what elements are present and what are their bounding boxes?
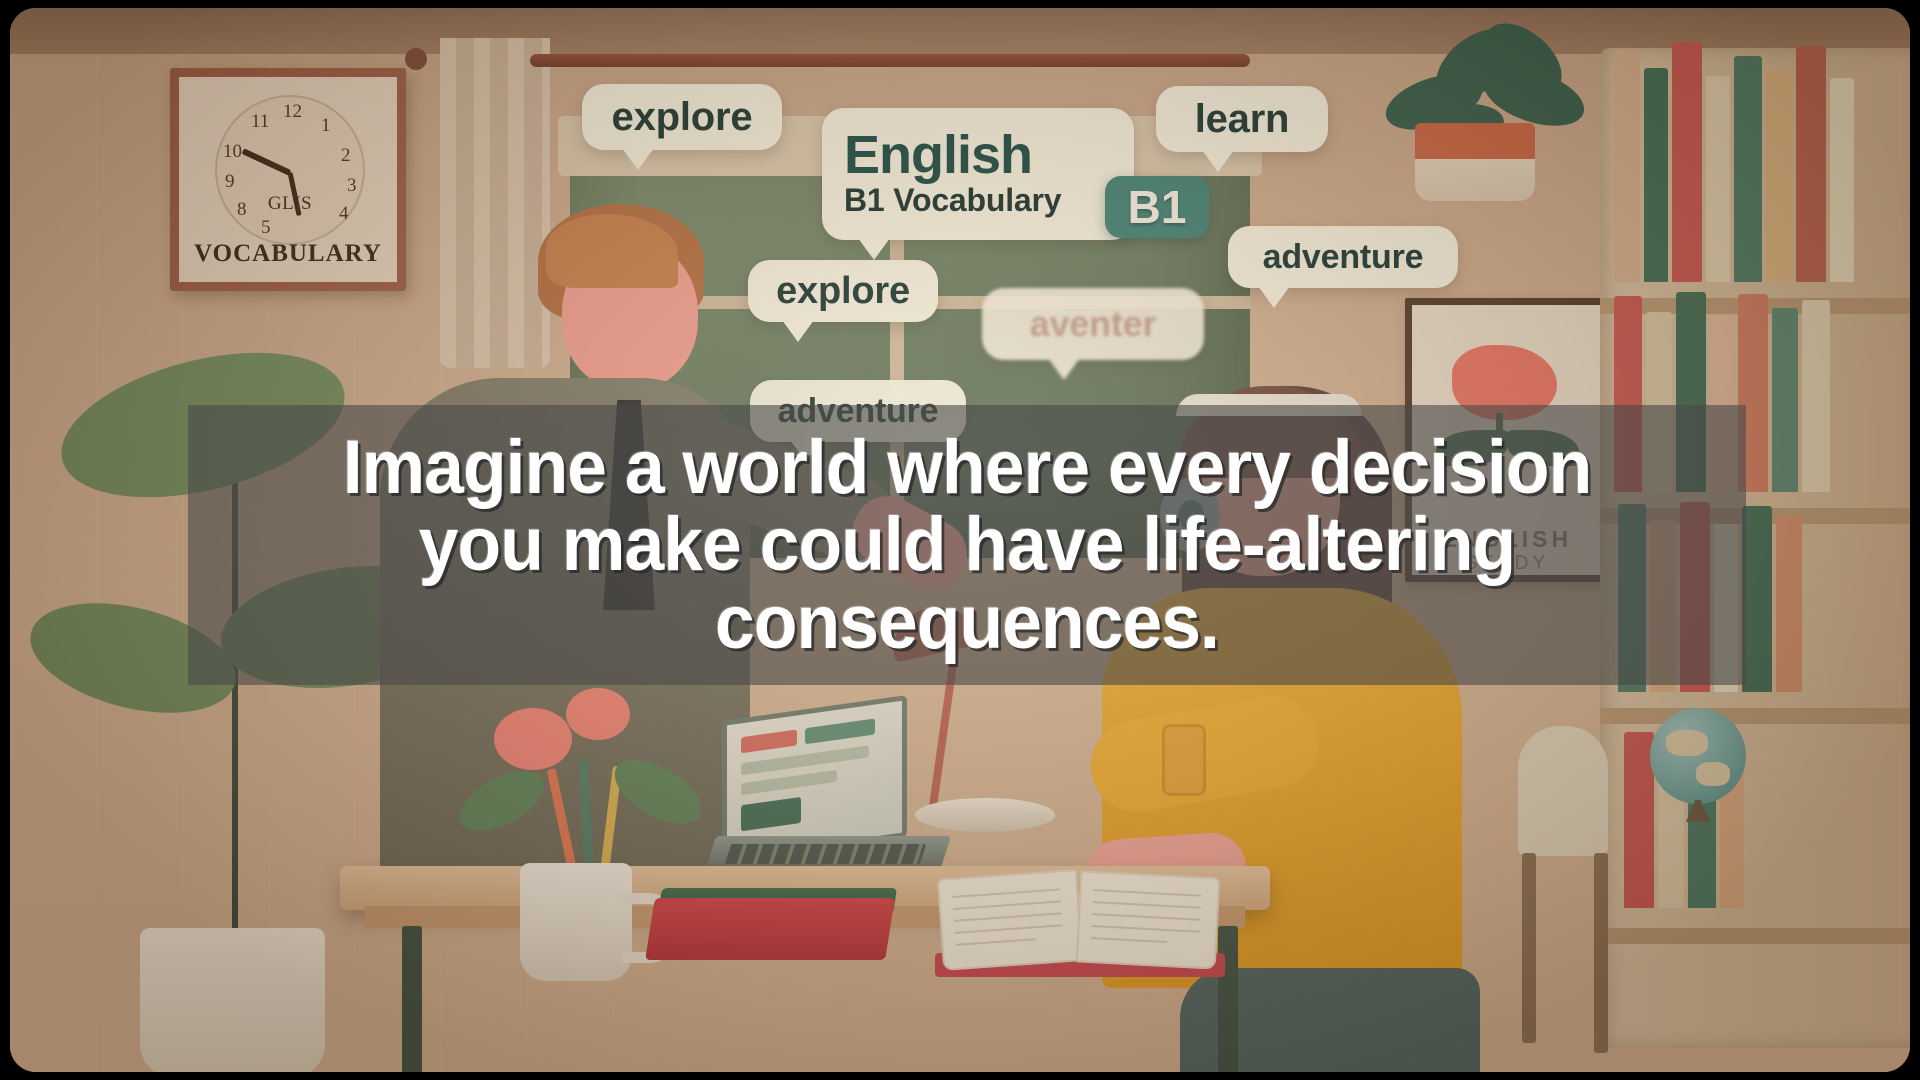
clock-number-1: 1 [321,115,331,137]
speech-bubble-text: adventure [1263,238,1424,277]
book-spine [1830,78,1854,282]
laptop-keyboard[interactable] [725,844,926,864]
clock-number-11: 11 [251,111,269,133]
clock-number-5: 5 [261,217,271,239]
page-line [952,888,1060,898]
speech-bubble-text: learn [1195,97,1290,142]
globe-landmass [1696,762,1730,786]
laptop-screen-block [805,718,875,744]
flower-blossom [494,708,572,770]
shelf-board [1600,708,1910,724]
book-spine [1706,76,1730,282]
floor-plant-pot [140,928,325,1072]
bubble-tail [858,238,890,260]
open-book-right-page [1076,870,1221,969]
sweater-cuff [1162,724,1206,796]
clock-number-12: 12 [283,101,302,123]
bubble-tail [622,148,654,170]
page-line [956,938,1036,946]
book-spine [1776,516,1802,692]
pencil-mug [520,863,632,981]
curtain [440,38,550,368]
clock-number-2: 2 [341,145,351,167]
bubble-tail [1258,286,1290,308]
laptop-screen-block [741,770,837,795]
chair-leg [1594,853,1608,1053]
video-surface: 12 1 2 3 4 5 8 9 10 11 GLIS VOCABULARY [10,8,1910,1072]
speech-bubble-explore-top: explore [582,84,782,150]
bubble-tail [1202,150,1234,172]
open-book-left-page [937,869,1083,971]
subtitle-line-2: you make could have life-altering [259,506,1675,584]
page-line [1092,925,1200,933]
laptop-screen-block [741,729,797,753]
bubble-tail [782,320,814,342]
speech-bubble-text: explore [776,270,910,313]
speech-bubble-learn: learn [1156,86,1328,152]
book-spine [1672,42,1702,282]
speech-bubble-title: English B1 Vocabulary [822,108,1134,240]
speech-bubble-faded: aventer [982,288,1204,360]
poster-caption: VOCABULARY [179,240,397,268]
book-spine [1796,46,1826,282]
desk-leg [1218,926,1238,1072]
desk-leg [402,926,422,1072]
shelf-board [1600,928,1910,944]
desk-lamp-base [915,798,1055,832]
clock-brand-text: GLIS [215,193,365,215]
title-line-2: B1 Vocabulary [844,184,1061,216]
speech-bubble-adventure-right: adventure [1228,226,1458,288]
subtitle-line-1: Imagine a world where every decision [259,429,1675,507]
globe-landmass [1666,730,1708,756]
subtitle-line-3: consequences. [259,584,1675,662]
hanging-plant-pot [1415,123,1535,201]
clock-face: 12 1 2 3 4 5 8 9 10 11 GLIS [215,95,365,245]
subtitle-text-block: Imagine a world where every decision you… [235,429,1700,662]
flower-blossom [566,688,630,740]
book-spine [1772,308,1798,492]
book-spine [1766,70,1792,282]
curtain-rod [530,54,1250,67]
page-line [1093,889,1201,897]
book-spine [1644,68,1668,282]
desk-book-red [645,898,895,960]
page-line [953,900,1061,910]
level-badge-b1: B1 [1105,176,1209,238]
chair-leg [1522,853,1536,1043]
page-line [1093,901,1201,909]
curtain-rod-knob [405,48,427,70]
laptop-screen-block [741,797,801,831]
globe [1650,708,1746,804]
book-spine [1614,50,1640,282]
video-frame-stage: 12 1 2 3 4 5 8 9 10 11 GLIS VOCABULARY [0,0,1920,1080]
bubble-tail [1048,358,1080,380]
book-spine [1734,56,1762,282]
speech-bubble-text: aventer [1030,303,1157,345]
book-spine [1742,506,1772,692]
clock-number-9: 9 [225,171,235,193]
title-line-1: English [844,128,1032,182]
clock-hour-hand [242,148,292,175]
level-badge-text: B1 [1128,180,1187,234]
book-spine [1802,300,1830,492]
page-line [955,924,1063,934]
speech-bubble-text: explore [612,95,753,140]
wall-poster-clock: 12 1 2 3 4 5 8 9 10 11 GLIS VOCABULARY [170,68,406,291]
subtitle-overlay: Imagine a world where every decision you… [188,405,1746,685]
chair-backrest [1518,726,1608,856]
page-line [1092,913,1200,921]
page-line [954,912,1062,922]
clock-number-10: 10 [223,141,242,163]
speech-bubble-explore-mid: explore [748,260,938,322]
page-line [1091,937,1167,943]
